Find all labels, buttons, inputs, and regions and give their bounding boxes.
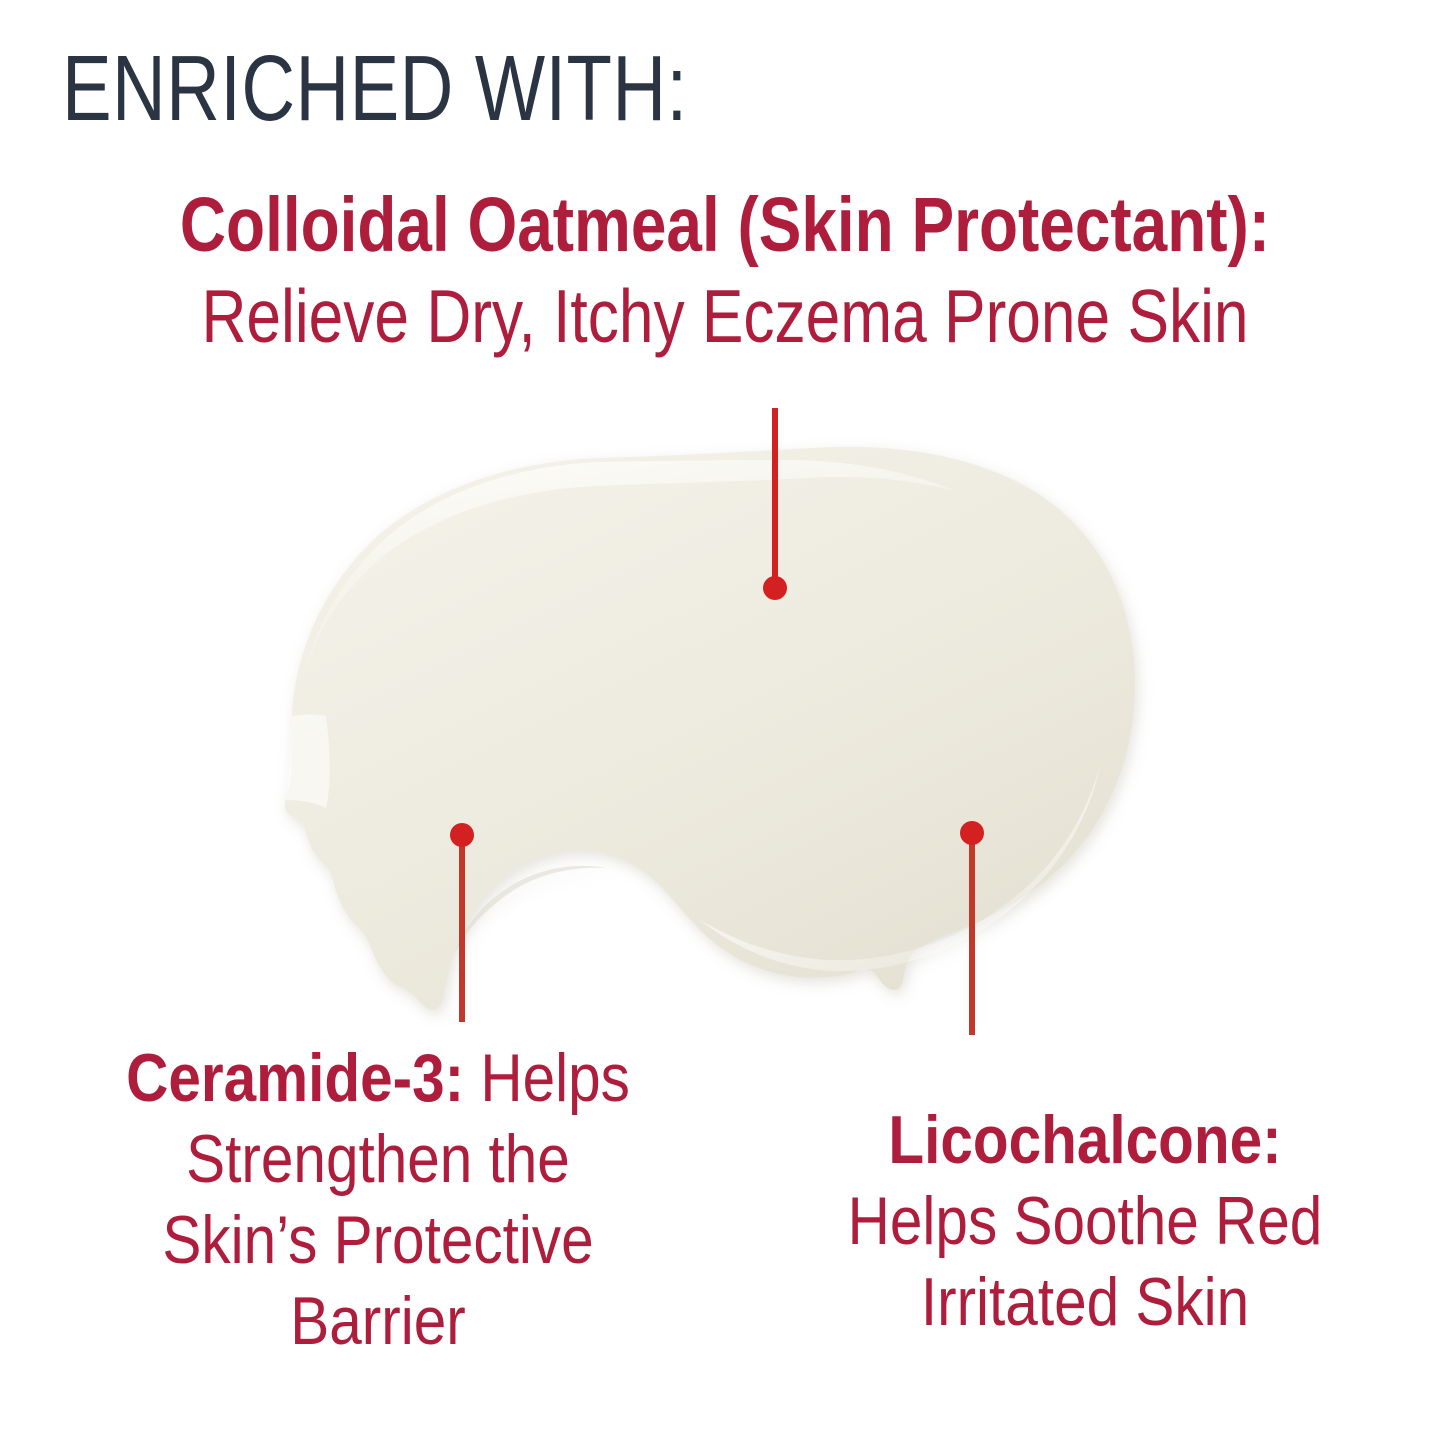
swatch-body [285, 447, 1135, 1010]
callout-colloidal-oatmeal: Colloidal Oatmeal (Skin Protectant): Rel… [50, 186, 1400, 356]
callout-detail-ceramide-3-part-2: Strengthen the [68, 1119, 687, 1200]
leader-ceramide-3 [450, 823, 474, 1022]
callout-heading-colloidal-oatmeal: Colloidal Oatmeal (Skin Protectant): [165, 186, 1286, 265]
callout-detail-licochalcone-part-2: Irritated Skin [788, 1262, 1381, 1343]
leader-dot-top [763, 576, 787, 600]
infographic-page: ENRICHED WITH: [0, 0, 1445, 1445]
cream-swatch [285, 447, 1135, 1010]
callout-ceramide-3-line-1: Ceramide-3: Helps [68, 1038, 687, 1119]
callout-detail-licochalcone-part-1: Helps Soothe Red [788, 1181, 1381, 1262]
page-title: ENRICHED WITH: [62, 42, 1134, 135]
callout-ceramide-3: Ceramide-3: Helps Strengthen the Skin’s … [18, 1038, 738, 1362]
swatch-torn-edge-shading [286, 715, 330, 809]
callout-detail-ceramide-3-part-3: Skin’s Protective [68, 1200, 687, 1281]
swatch-top-rim-highlight [300, 460, 958, 700]
callout-heading-ceramide-3: Ceramide-3: [126, 1040, 464, 1116]
callout-detail-ceramide-3-part-4: Barrier [68, 1281, 687, 1362]
swatch-notch-shadow [452, 866, 606, 958]
leader-dot-bottom-left [450, 823, 474, 847]
callout-licochalcone: Licochalcone: Helps Soothe Red Irritated… [740, 1100, 1430, 1343]
swatch-lower-sheen [700, 766, 1100, 971]
callout-detail-colloidal-oatmeal: Relieve Dry, Itchy Eczema Prone Skin [165, 277, 1286, 357]
leader-colloidal-oatmeal [763, 408, 787, 600]
leader-licochalcone [960, 821, 984, 1035]
callout-heading-licochalcone: Licochalcone: [788, 1100, 1381, 1181]
leader-dot-bottom-right [960, 821, 984, 845]
callout-detail-ceramide-3-part-1: Helps [464, 1040, 630, 1116]
